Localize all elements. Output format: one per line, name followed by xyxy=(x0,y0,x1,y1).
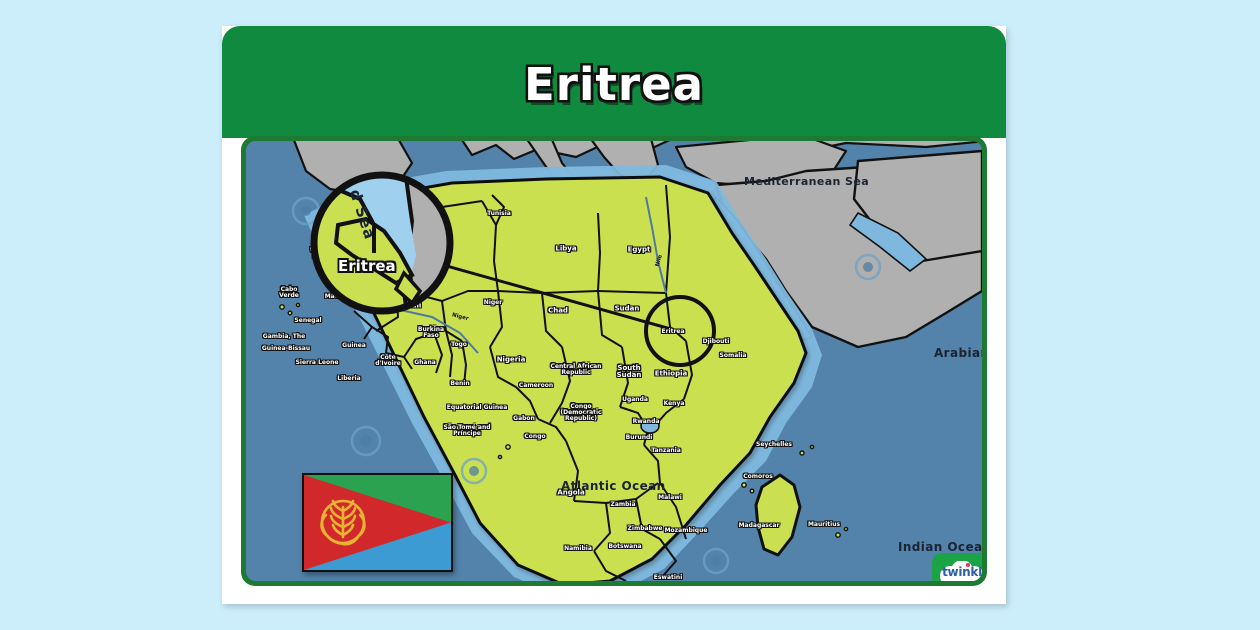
title-banner: Eritrea xyxy=(222,26,1006,138)
magnifier-country-label: Eritrea xyxy=(338,257,396,275)
magnifier-graphic xyxy=(308,169,456,317)
ocean-label-arabian-ocean: Arabian Ocean xyxy=(934,346,982,360)
map-frame: Mediterranean Sea Atlantic Ocean Arabian… xyxy=(241,136,987,586)
ocean-label-indian-ocean: Indian Ocean xyxy=(898,540,982,554)
ocean-label-atlantic-ocean: Atlantic Ocean xyxy=(561,479,666,493)
page-title: Eritrea xyxy=(222,26,1006,140)
poster-stage: Eritrea xyxy=(0,0,1260,630)
map-canvas: Mediterranean Sea Atlantic Ocean Arabian… xyxy=(246,141,982,581)
twinkl-wordmark: twinkl xyxy=(932,565,982,579)
ocean-label-mediterranean-sea: Mediterranean Sea xyxy=(744,175,869,188)
eritrea-flag xyxy=(302,473,453,572)
flag-graphic xyxy=(304,475,451,570)
poster-card: Eritrea xyxy=(222,26,1006,604)
eritrea-magnifier-inset: d Sea Eritrea xyxy=(308,169,456,317)
twinkl-logo[interactable]: twinkl xyxy=(932,553,982,581)
